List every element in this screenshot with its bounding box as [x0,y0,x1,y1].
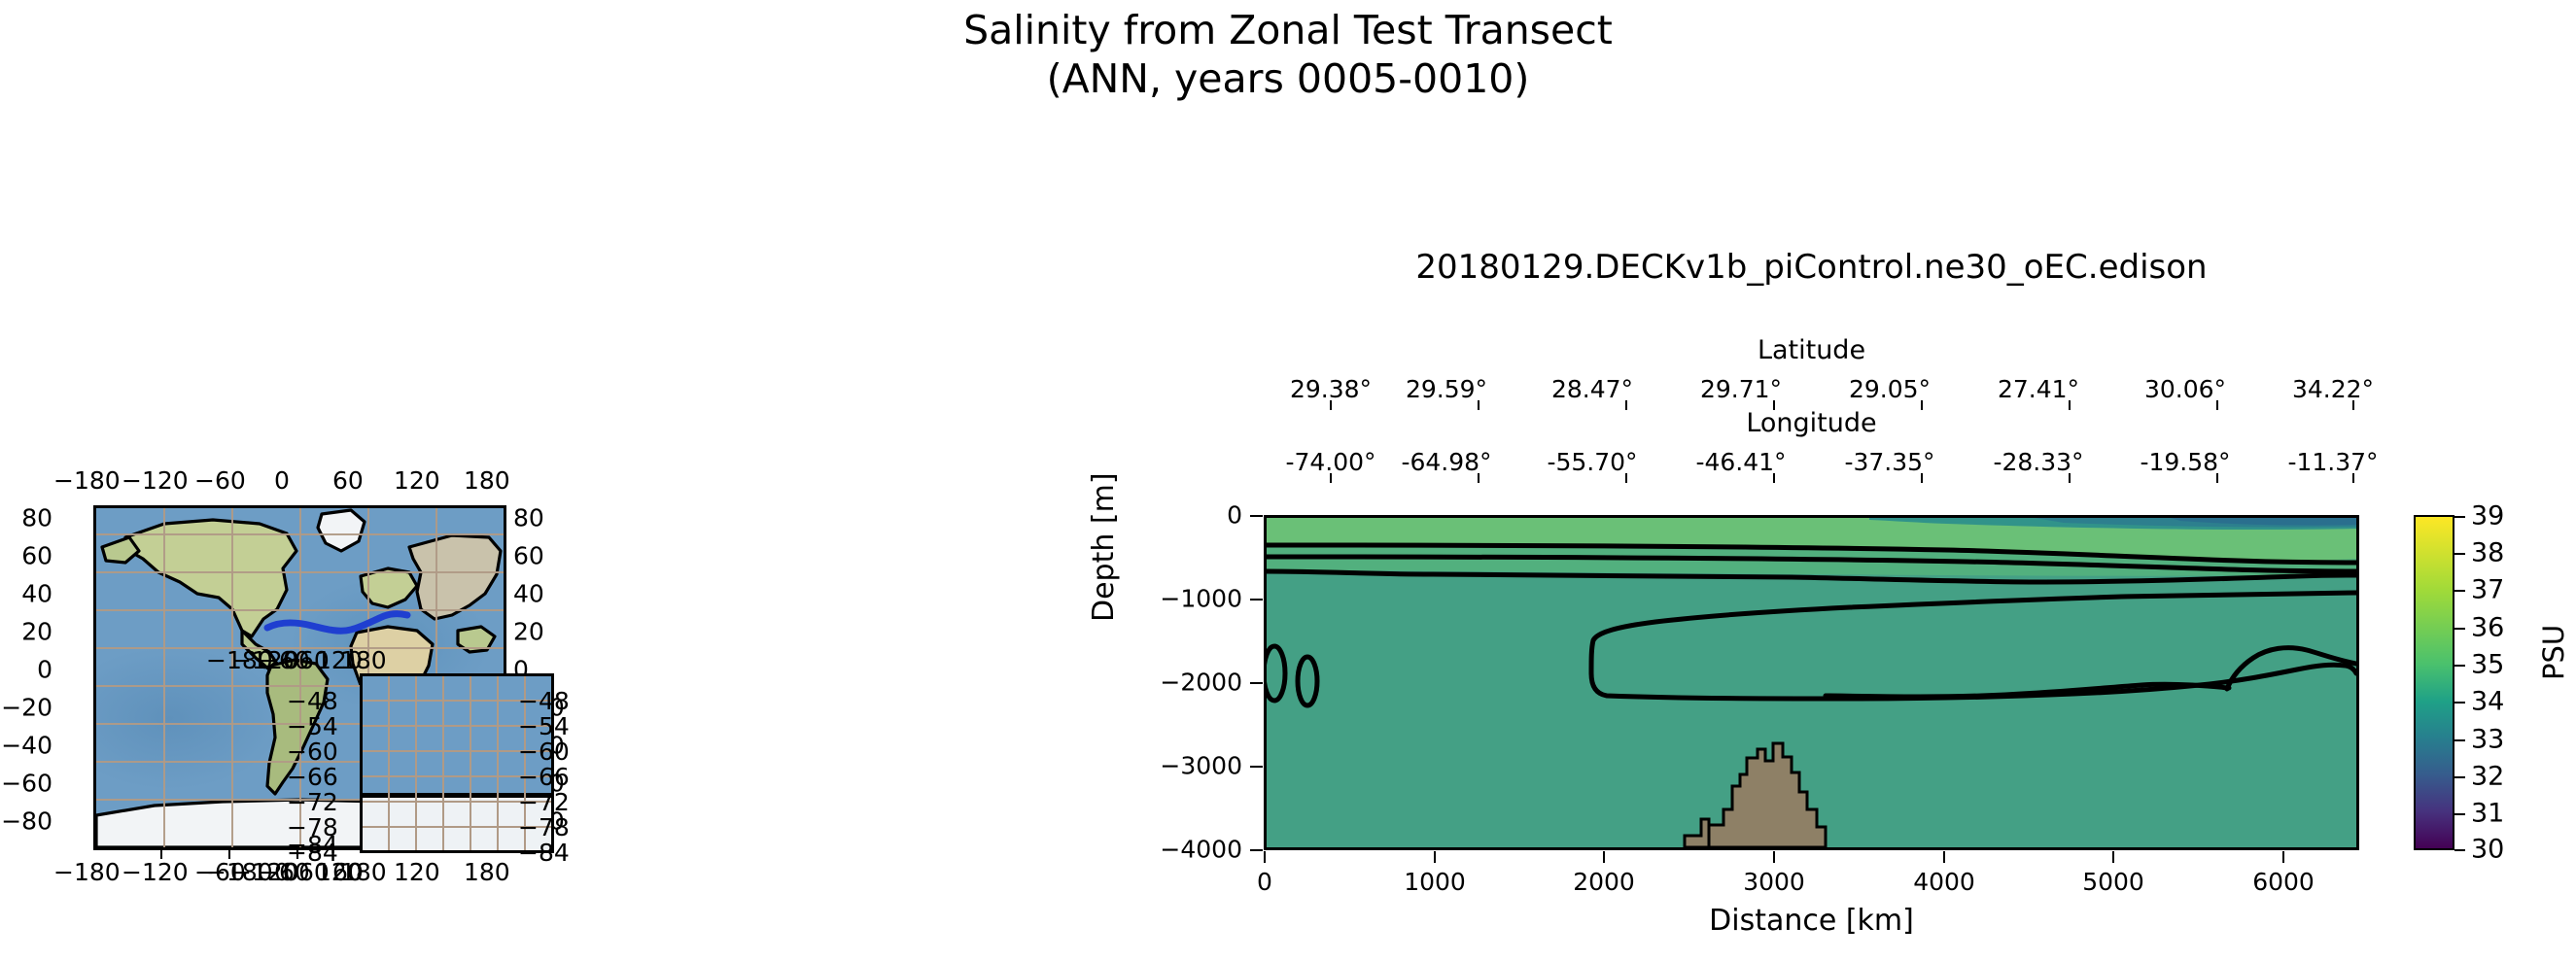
longitude-tick-label: -74.00° [1285,448,1375,476]
colorbar-tick-label: 38 [2471,538,2504,568]
map-ytick-label-left: 20 [21,618,52,646]
lon-tick [1330,473,1332,483]
map-ytick-label-right: 40 [513,580,544,608]
latitude-tick-label: 29.38° [1290,375,1372,403]
inset-ytick-label-right: −48 [518,687,570,715]
lat-tick [2352,400,2354,410]
inset-ytick-label-right: −66 [518,763,570,791]
inset-ytick-label-right: −60 [518,738,570,766]
map-ytick-label-right: 60 [513,542,544,570]
latitude-tick-label: 29.71° [1700,375,1782,403]
inset-ytick-label: −72 [287,788,338,816]
map-xtick-label-top: 0 [274,466,290,495]
depth-tick [1250,599,1263,601]
lon-tick [2069,473,2071,483]
depth-tick-label: 0 [1227,501,1242,530]
map-ytick-label-left: −40 [1,732,52,760]
lon-tick [2216,473,2218,483]
distance-tick-label: 3000 [1743,868,1805,896]
depth-tick-label: −2000 [1160,669,1242,697]
inset-gridline-lon [415,676,417,850]
inset-xtick-label-bottom: 0 [284,858,299,886]
colorbar-tick-label: 33 [2471,725,2504,755]
inset-ytick-label-overlap: −84 [287,831,338,859]
map-xtick-label-top: −120 [122,466,189,495]
map-ytick-label-left: 40 [21,580,52,608]
lat-tick [1625,400,1627,410]
colorbar-tick-label: 30 [2471,835,2504,865]
map-ytick-label-left: 60 [21,542,52,570]
colorbar-tick-label: 37 [2471,575,2504,605]
colorbar-tick [2454,553,2465,555]
distance-axis-label: Distance [km] [1264,904,2359,938]
map-xtick-label-bottom: 180 [464,858,510,886]
inset-ytick-label-right: −84 [518,839,570,867]
salinity-section-plot[interactable] [1264,515,2359,850]
distance-tick-label: 5000 [2082,868,2144,896]
distance-tick [2112,851,2114,863]
longitude-tick-label: -19.58° [2140,448,2230,476]
figure-suptitle: Salinity from Zonal Test Transect (ANN, … [0,6,2576,103]
colorbar-tick-label: 34 [2471,687,2504,717]
map-xtick-label-top: 180 [464,466,510,495]
distance-tick [1943,851,1945,863]
lat-tick [1330,400,1332,410]
lat-tick [1478,400,1479,410]
salinity-contourf [1267,518,2356,847]
map-xtick-label-top: −180 [53,466,121,495]
map-xtick-label-bottom: −120 [122,858,189,886]
map-xtick-label-bottom: 120 [394,858,440,886]
depth-tick [1250,515,1263,517]
distance-tick [1603,851,1605,863]
inset-ytick-label: −54 [287,712,338,740]
colorbar-tick [2454,813,2465,815]
distance-tick [1264,851,1266,863]
depth-tick [1250,849,1263,851]
longitude-tick-label: -28.33° [1993,448,2083,476]
distance-tick-label: 0 [1257,868,1272,896]
map-xtick-label-top: 60 [332,466,364,495]
lon-tick [2352,473,2354,483]
map-ytick-label-left: −80 [1,807,52,836]
latitude-tick-label: 27.41° [1998,375,2079,403]
colorbar-tick [2454,849,2465,851]
distance-tick-label: 4000 [1913,868,1975,896]
distance-tick-label: 1000 [1404,868,1466,896]
lat-tick [1773,400,1775,410]
longitude-tick-label: -37.35° [1844,448,1934,476]
longitude-axis-name: Longitude [1264,408,2359,438]
colorbar-label: PSU [2537,625,2570,680]
map-ytick-label-left: 80 [21,504,52,532]
colorbar-tick-label: 39 [2471,501,2504,532]
longitude-tick-label: -64.98° [1401,448,1491,476]
latitude-tick-label: 28.47° [1551,375,1633,403]
map-xtick-label-bottom: −180 [53,858,121,886]
map-ytick-label-right: 20 [513,618,544,646]
depth-tick-label: −1000 [1160,585,1242,613]
map-ytick-label-right: 80 [513,504,544,532]
latitude-tick-label: 29.05° [1849,375,1931,403]
colorbar-tick [2454,516,2465,518]
lon-tick [1773,473,1775,483]
inset-gridline-lon [388,676,390,850]
colorbar-tick [2454,776,2465,778]
inset-ytick-label: −48 [287,687,338,715]
distance-tick [1773,851,1775,863]
colorbar-tick [2454,628,2465,630]
map-xtick-label-top: 120 [394,466,440,495]
depth-tick [1250,766,1263,768]
latitude-tick-label: 30.06° [2144,375,2226,403]
salinity-colorbar[interactable] [2414,515,2454,850]
longitude-tick-label: -55.70° [1547,448,1637,476]
inset-xtick-label-top: 180 [340,646,387,674]
lon-tick [1625,473,1627,483]
colorbar-tick-label: 32 [2471,762,2504,792]
inset-ytick-label-right: −78 [518,813,570,841]
colorbar-tick [2454,739,2465,741]
map-ytick-label-left: −20 [1,694,52,722]
latitude-tick-label: 29.59° [1406,375,1487,403]
inset-ytick-label: −60 [287,738,338,766]
longitude-tick-label: -11.37° [2287,448,2378,476]
latitude-axis-name: Latitude [1264,335,2359,365]
map-ytick-label-left: 0 [37,656,52,684]
inset-ytick-label-right: −72 [518,788,570,816]
inset-gridline-lon [497,676,499,850]
colorbar-tick [2454,590,2465,592]
longitude-tick-label: -46.41° [1695,448,1786,476]
distance-tick-label: 6000 [2252,868,2315,896]
distance-tick [2282,851,2284,863]
lat-tick [2069,400,2071,410]
depth-tick [1250,682,1263,684]
lat-tick [2216,400,2218,410]
inset-gridline-lon [442,676,444,850]
inset-gridline-lon [470,676,471,850]
transect-title: 20180129.DECKv1b_piControl.ne30_oEC.edis… [1264,248,2359,287]
colorbar-tick-label: 35 [2471,650,2504,680]
lon-tick [1478,473,1479,483]
colorbar-tick [2454,702,2465,704]
colorbar-tick [2454,665,2465,667]
distance-tick-label: 2000 [1573,868,1635,896]
depth-tick-label: −4000 [1160,836,1242,864]
colorbar-tick-label: 31 [2471,799,2504,829]
colorbar-tick-label: 36 [2471,613,2504,643]
lon-tick [1921,473,1923,483]
map-xtick-label-top: −60 [194,466,246,495]
latitude-tick-label: 34.22° [2292,375,2374,403]
map-ytick-label-left: −60 [1,770,52,798]
distance-tick [1434,851,1436,863]
depth-tick-label: −3000 [1160,752,1242,780]
inset-xtick-label-bottom: 180 [340,858,387,886]
lat-tick [1921,400,1923,410]
depth-axis-label: Depth [m] [1087,472,1121,622]
inset-ytick-label-right: −54 [518,712,570,740]
inset-ytick-label: −66 [287,763,338,791]
inset-xtick-label-top: 0 [284,646,299,674]
